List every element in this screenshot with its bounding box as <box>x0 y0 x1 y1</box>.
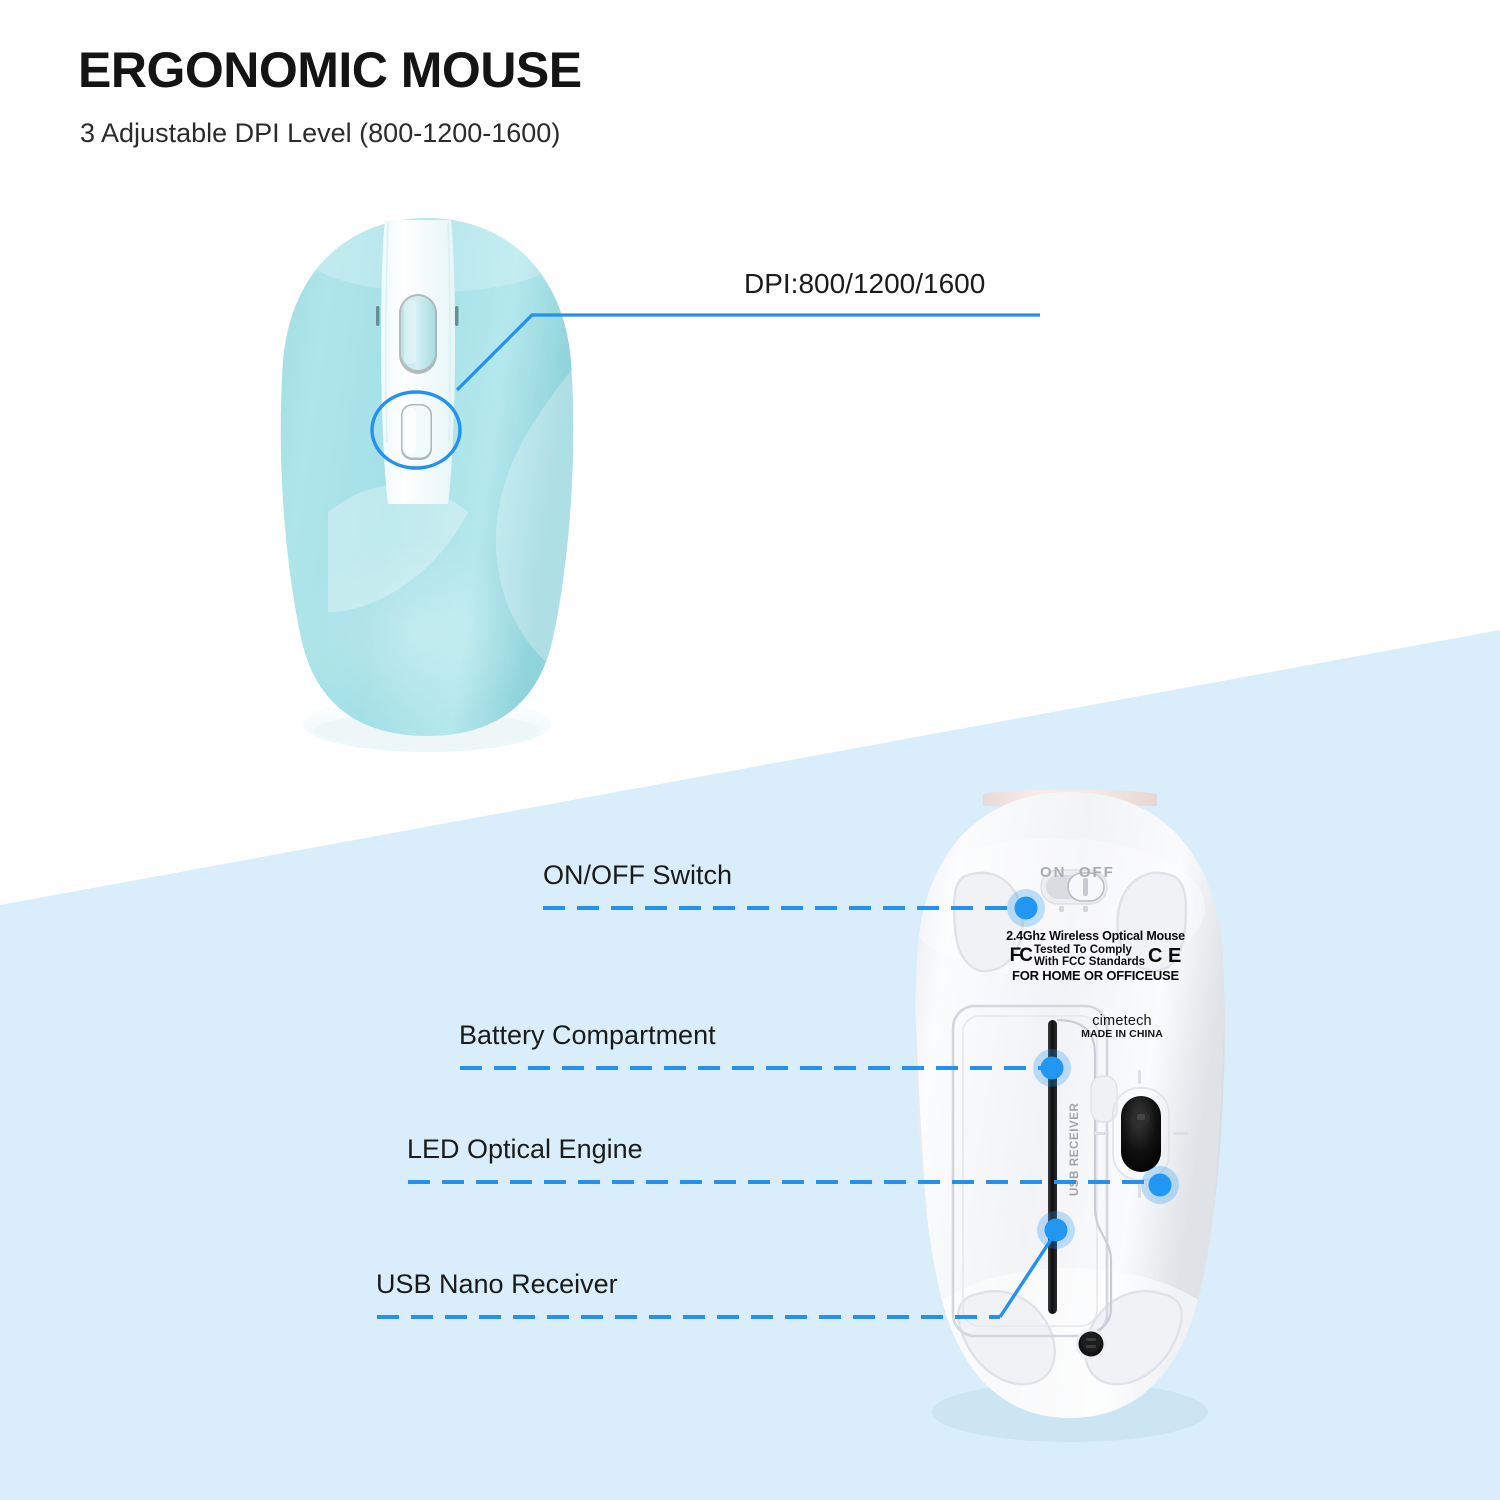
fcc-compliance-label: 2.4Ghz Wireless Optical Mouse FC Tested … <box>1003 930 1188 982</box>
infographic-canvas: ERGONOMIC MOUSE 3 Adjustable DPI Level (… <box>0 0 1500 1500</box>
country-of-origin: MADE IN CHINA <box>1062 1028 1182 1040</box>
callout-label-battery-compartment: Battery Compartment <box>459 1020 716 1051</box>
screw-hole <box>1076 1329 1106 1359</box>
fcc-label-product-line: 2.4Ghz Wireless Optical Mouse <box>1003 930 1188 943</box>
page-title: ERGONOMIC MOUSE <box>78 44 582 97</box>
callout-label-dpi: DPI:800/1200/1600 <box>744 268 985 300</box>
usb-receiver-slot-label: USB RECEIVER <box>1069 1103 1081 1196</box>
fcc-label-comply-text: Tested To Comply With FCC Standards <box>1034 944 1145 969</box>
mouse-top-view-image <box>268 212 586 752</box>
power-switch-label: ON OFF <box>1040 864 1115 881</box>
ce-mark-icon: C E <box>1148 946 1181 966</box>
fcc-mark-icon: FC <box>1010 946 1031 965</box>
brand-name: cimetech <box>1062 1013 1182 1029</box>
page-subtitle: 3 Adjustable DPI Level (800-1200-1600) <box>80 118 560 149</box>
brand-label: cimetech MADE IN CHINA <box>1062 1013 1182 1040</box>
callout-label-onoff-switch: ON/OFF Switch <box>543 860 732 891</box>
callout-label-led-optical-engine: LED Optical Engine <box>407 1134 643 1165</box>
callout-label-usb-nano-receiver: USB Nano Receiver <box>376 1269 618 1300</box>
diagonal-background-band <box>0 0 1500 1500</box>
fcc-label-use-text: FOR HOME OR OFFICEUSE <box>1003 969 1188 982</box>
